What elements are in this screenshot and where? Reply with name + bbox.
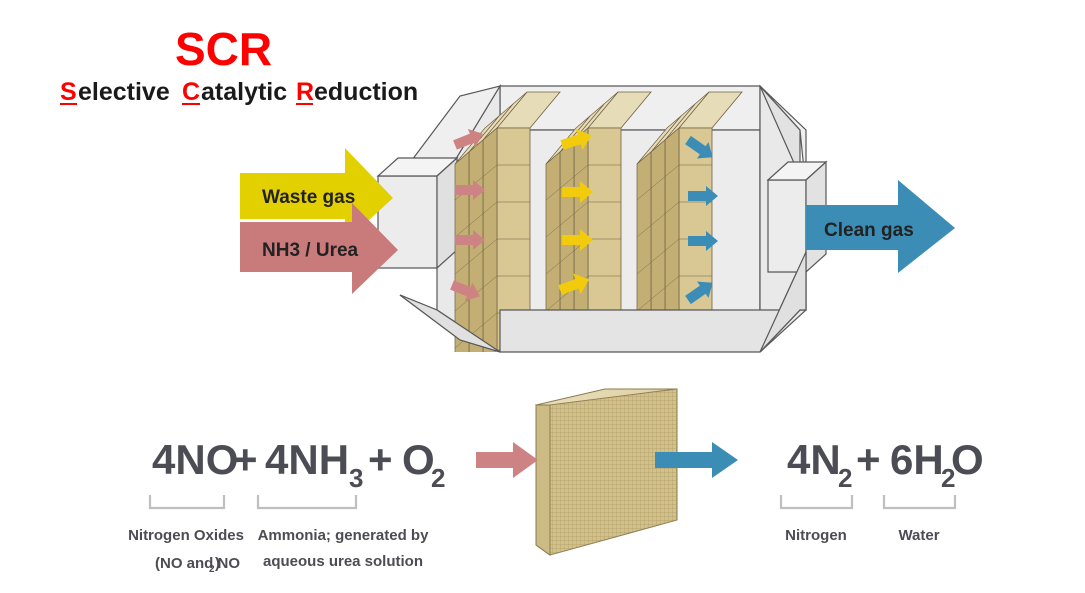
- annotation-water-line1: Water: [898, 527, 939, 544]
- catalyst-block-left-panel: [536, 405, 550, 555]
- annotation-nitrogen: Nitrogen: [785, 527, 847, 544]
- equation-left-brackets: [150, 495, 356, 508]
- bracket-nitrogen-oxides: [150, 495, 224, 508]
- eq-right-term-1-sub: 2: [838, 463, 852, 493]
- clean-gas-label: Clean gas: [824, 220, 914, 241]
- eq-left-term-3-sub: 2: [431, 463, 445, 493]
- housing-bottom-face-overlay: [500, 310, 800, 352]
- outlet-arrow-clean-gas[interactable]: Clean gas: [806, 180, 955, 273]
- inlet-duct-side: [437, 158, 457, 268]
- annotation-ammonia-line1: Ammonia; generated by: [258, 527, 430, 544]
- expansion-cap-r: R: [296, 78, 314, 106]
- scr-diagram-canvas: SCR S elective C atalytic R eduction: [0, 0, 1085, 593]
- catalyst-block: [536, 389, 677, 555]
- eq-right-term-3: O: [951, 436, 984, 483]
- nh3-urea-label: NH3 / Urea: [262, 240, 359, 261]
- bracket-nitrogen: [781, 495, 852, 508]
- block-inlet-arrow: [476, 442, 538, 478]
- expansion-rest-catalytic: atalytic: [201, 78, 287, 106]
- annotation-ammonia-line2: aqueous urea solution: [263, 553, 423, 570]
- diagram-svg: SCR S elective C atalytic R eduction: [0, 0, 1085, 593]
- eq-left-plus-2: +: [368, 436, 393, 483]
- annotation-nitrogen-line1: Nitrogen: [785, 527, 847, 544]
- eq-left-term-3: O: [402, 436, 435, 483]
- annotation-nox-line1: Nitrogen Oxides: [128, 527, 244, 544]
- bracket-water: [884, 495, 955, 508]
- annotation-water: Water: [898, 527, 939, 544]
- waste-gas-label: Waste gas: [262, 187, 355, 208]
- expansion-rest-selective: elective: [78, 78, 170, 106]
- eq-right-plus: +: [856, 436, 881, 483]
- annotation-nitrogen-oxides: Nitrogen Oxides (NO and NO 2 ): [128, 527, 244, 575]
- annotation-ammonia: Ammonia; generated by aqueous urea solut…: [258, 527, 430, 570]
- eq-right-term-1: 4N: [787, 436, 841, 483]
- equation-right-brackets: [781, 495, 955, 508]
- expansion-cap-c: C: [182, 78, 200, 106]
- eq-left-term-2: 4NH: [265, 436, 349, 483]
- eq-right-term-2: 6H: [890, 436, 944, 483]
- catalyst-block-front-shade: [550, 389, 677, 555]
- eq-left-plus-1: +: [233, 436, 258, 483]
- outlet-duct-front: [768, 180, 806, 272]
- equation-right: 4N 2 + 6H 2 O: [787, 436, 984, 493]
- reactor-housing: [378, 86, 830, 412]
- annotation-nox-line2-post: ): [215, 555, 220, 572]
- page-title-acronym: SCR: [175, 23, 272, 75]
- expansion-rest-reduction: eduction: [314, 78, 418, 106]
- equation-left: 4NO + 4NH 3 + O 2: [152, 436, 445, 493]
- annotation-nox-line2: (NO and NO: [155, 555, 240, 572]
- block-inlet-arrow-shape: [476, 442, 538, 478]
- eq-left-term-2-sub: 3: [349, 463, 363, 493]
- page-title-expansion: S elective C atalytic R eduction: [60, 78, 418, 106]
- eq-left-term-1: 4NO: [152, 436, 238, 483]
- expansion-cap-s: S: [60, 78, 77, 106]
- bracket-ammonia: [258, 495, 356, 508]
